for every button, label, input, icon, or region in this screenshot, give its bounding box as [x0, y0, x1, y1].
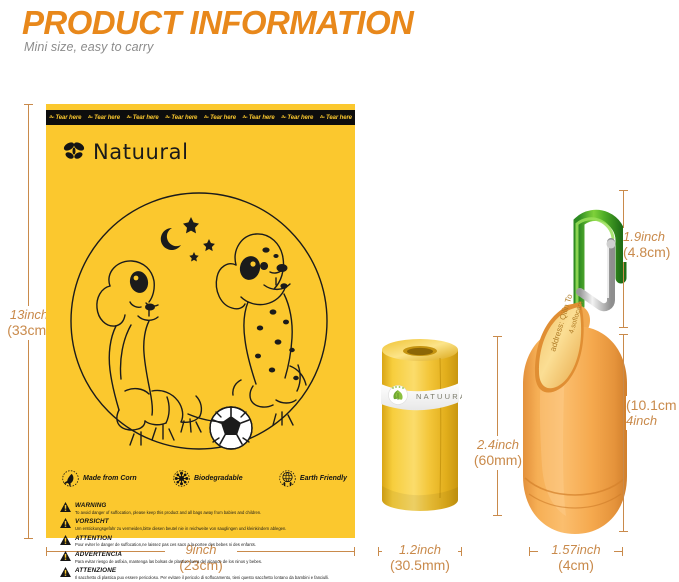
scissors-icon: ✁ [88, 114, 93, 121]
page-subtitle: Mini size, easy to carry [24, 40, 154, 54]
warning-heading: ADVERTENCIA [75, 551, 350, 559]
warning-row: ATTENTION Pour eviter le danger de suffo… [60, 535, 350, 548]
warning-body: Um erstickungsgefahr zu vermeiden,bitte … [75, 526, 350, 531]
roll-label-text: NATUURAL [416, 392, 462, 401]
dispenser-width-tick-left [529, 547, 530, 556]
dispenser-height-tick-bottom [619, 531, 628, 532]
feature-label: Biodegradable [194, 475, 243, 482]
scissors-icon: ✁ [204, 114, 209, 121]
feature-label: Earth Friendly [300, 475, 347, 482]
feature-badges: Made from Corn Biodegradable [62, 470, 347, 487]
warning-body: To avoid danger of suffocation, please k… [75, 510, 350, 515]
brand-name: Natuural [93, 140, 189, 164]
tear-here-strip: ✁Tear here ✁Tear here ✁Tear here ✁Tear h… [46, 110, 355, 125]
warning-body: Pour eviter le danger de suffocation,ne … [75, 542, 350, 547]
warning-heading: ATTENTION [75, 535, 350, 543]
tear-here-item: ✁Tear here [281, 114, 313, 121]
poop-bag-product: ✁Tear here ✁Tear here ✁Tear here ✁Tear h… [46, 104, 355, 538]
brand-logo: Natuural [62, 140, 189, 164]
warning-triangle-icon [60, 502, 71, 512]
warning-body: Para evitar riesgo de asfixia, mantenga … [75, 559, 350, 564]
bag-height-tick-top [24, 104, 33, 105]
warning-triangle-icon [60, 518, 71, 528]
scissors-icon: ✁ [281, 114, 286, 121]
bag-width-tick-left [46, 547, 47, 556]
dispenser-height-label: (10.1cm 4inch [626, 396, 679, 430]
tear-here-item: ✁Tear here [242, 114, 274, 121]
tear-here-item: ✁Tear here [320, 114, 352, 121]
roll-height-tick-bottom [493, 515, 502, 516]
roll-height-tick-top [493, 336, 502, 337]
warning-heading: ATTENZIONE [75, 567, 350, 575]
corn-icon [62, 470, 79, 487]
feature-biodegradable: Biodegradable [173, 470, 243, 487]
scissors-icon: ✁ [126, 114, 131, 121]
warnings-list: WARNING To avoid danger of suffocation, … [60, 502, 350, 582]
carabiner-height-tick-bottom [619, 327, 628, 328]
biodegradable-icon [173, 470, 190, 487]
dispenser-height-tick-top [619, 334, 628, 335]
warning-triangle-icon [60, 567, 71, 577]
carabiner-height-tick-top [619, 190, 628, 191]
warning-triangle-icon [60, 535, 71, 545]
warning-row: WARNING To avoid danger of suffocation, … [60, 502, 350, 515]
scissors-icon: ✁ [165, 114, 170, 121]
roll-width-tick-right [461, 547, 462, 556]
leaf-butterfly-icon [62, 141, 86, 163]
warning-row: ADVERTENCIA Para evitar riesgo de asfixi… [60, 551, 350, 564]
earth-globe-icon [279, 470, 296, 487]
warning-row: VORSICHT Um erstickungsgefahr zu vermeid… [60, 518, 350, 531]
scissors-icon: ✁ [242, 114, 247, 121]
carabiner-height-label: 1.9inch (4.8cm) [623, 228, 679, 262]
warning-body: Il sacchetto di plastica puo essere peri… [75, 575, 350, 580]
bag-width-tick-right [354, 547, 355, 556]
dispenser-width-label: 1.57inch (4cm) [538, 543, 614, 573]
warning-heading: VORSICHT [75, 518, 350, 526]
feature-earth-friendly: Earth Friendly [279, 470, 347, 487]
tear-here-item: ✁Tear here [49, 114, 81, 121]
roll-height-dimension-line [497, 336, 498, 516]
roll-width-label: 1.2inch (30.5mm) [382, 543, 458, 573]
tear-here-item: ✁Tear here [88, 114, 120, 121]
feature-label: Made from Corn [83, 475, 137, 482]
dispenser-height-dimension-line [623, 334, 624, 532]
roll-width-tick-left [378, 547, 379, 556]
bag-dispenser-product: address: Qilin To 4.soflocam [515, 186, 635, 536]
page-title: PRODUCT INFORMATION [22, 4, 413, 42]
carabiner-icon [577, 215, 621, 307]
scissors-icon: ✁ [49, 114, 54, 121]
scissors-icon: ✁ [320, 114, 325, 121]
tear-here-item: ✁Tear here [126, 114, 158, 121]
warning-heading: WARNING [75, 502, 350, 510]
tear-here-item: ✁Tear here [204, 114, 236, 121]
tear-here-item: ✁Tear here [165, 114, 197, 121]
warning-row: ATTENZIONE Il sacchetto di plastica puo … [60, 567, 350, 580]
product-information-page: PRODUCT INFORMATION Mini size, easy to c… [0, 0, 679, 582]
dogs-illustration [68, 190, 330, 452]
bag-roll-product: NATUURAL [378, 336, 462, 516]
leaf-badge-icon [389, 386, 408, 405]
feature-made-from-corn: Made from Corn [62, 470, 137, 487]
dispenser-width-tick-right [622, 547, 623, 556]
warning-triangle-icon [60, 551, 71, 561]
bag-height-tick-bottom [24, 538, 33, 539]
